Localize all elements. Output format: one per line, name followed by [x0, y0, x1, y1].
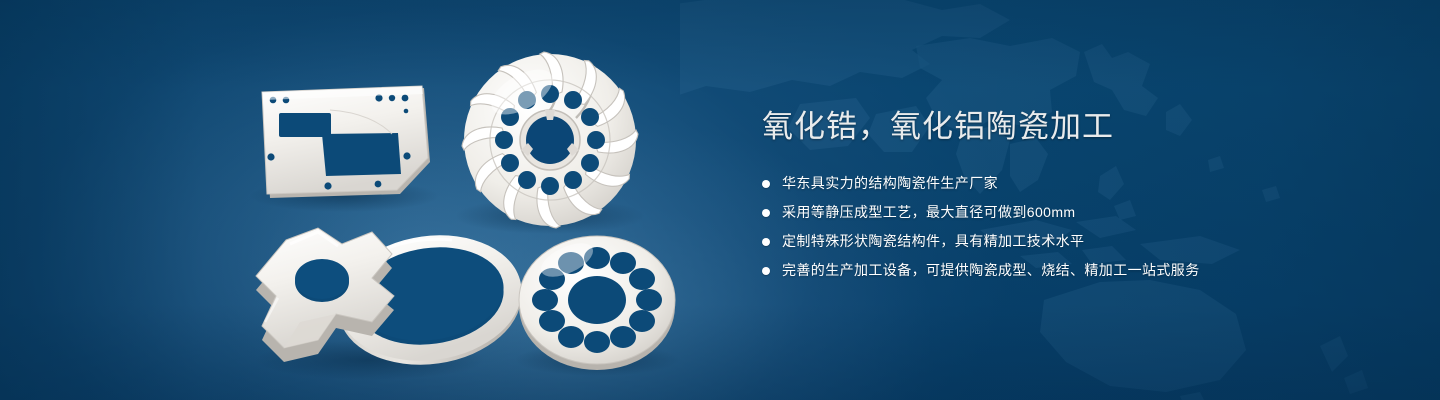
list-item-label: 完善的生产加工设备，可提供陶瓷成型、烧结、精加工一站式服务 — [782, 260, 1200, 281]
bullet-dot-icon — [762, 267, 770, 275]
list-item: 采用等静压成型工艺，最大直径可做到600mm — [762, 202, 1382, 223]
feature-list: 华东具实力的结构陶瓷件生产厂家 采用等静压成型工艺，最大直径可做到600mm 定… — [762, 173, 1382, 281]
list-item-label: 华东具实力的结构陶瓷件生产厂家 — [782, 173, 998, 194]
list-item-label: 定制特殊形状陶瓷结构件，具有精加工技术水平 — [782, 231, 1084, 252]
bullet-dot-icon — [762, 180, 770, 188]
list-item-label: 采用等静压成型工艺，最大直径可做到600mm — [782, 202, 1075, 223]
banner-copy: 氧化锆，氧化铝陶瓷加工 华东具实力的结构陶瓷件生产厂家 采用等静压成型工艺，最大… — [762, 108, 1382, 281]
list-item: 完善的生产加工设备，可提供陶瓷成型、烧结、精加工一站式服务 — [762, 260, 1382, 281]
bullet-dot-icon — [762, 238, 770, 246]
list-item: 定制特殊形状陶瓷结构件，具有精加工技术水平 — [762, 231, 1382, 252]
page-title: 氧化锆，氧化铝陶瓷加工 — [762, 108, 1382, 145]
bullet-dot-icon — [762, 209, 770, 217]
list-item: 华东具实力的结构陶瓷件生产厂家 — [762, 173, 1382, 194]
promo-banner: 氧化锆，氧化铝陶瓷加工 华东具实力的结构陶瓷件生产厂家 采用等静压成型工艺，最大… — [0, 0, 1440, 400]
